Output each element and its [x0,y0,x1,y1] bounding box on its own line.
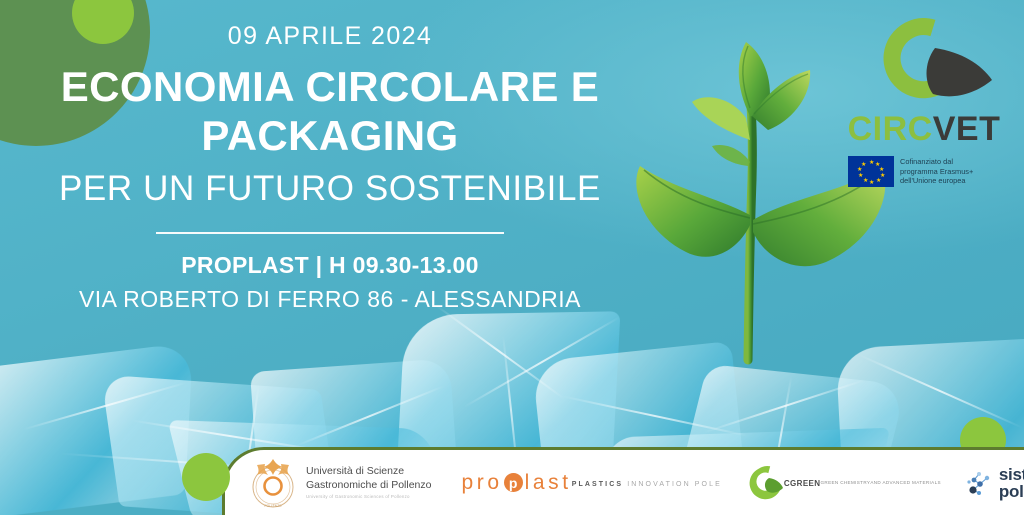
venue-and-time: PROPLAST | H 09.30-13.00 [0,252,660,279]
cgreen-mark-icon [748,465,784,501]
circvet-mark-icon [849,8,999,116]
unisg-seal-icon: POLLENZO [247,455,299,511]
unisg-subline: University of Gastronomic Sciences of Po… [306,494,431,500]
erasmus-badge-text: Cofinanziato dal programma Erasmus+ dell… [900,157,973,186]
circvet-logo: CIRCVET ★ ★ ★ ★ ★ ★ ★ ★ ★ ★ Cofinanziato… [840,8,1008,187]
circvet-word-vet: VET [933,110,1001,148]
unisg-line1: Università di Scienze [306,465,431,478]
erasmus-eu-badge: ★ ★ ★ ★ ★ ★ ★ ★ ★ ★ Cofinanziato dal pro… [848,156,1008,187]
unisg-text: Università di Scienze Gastronomiche di P… [306,465,431,500]
proplast-circle-p-icon: p [504,473,523,492]
cgreen-name: CGREEN [784,479,821,488]
text-divider-rule [156,232,504,234]
sistema-poli-wordmark: sistema poli innovation Piemonte [999,466,1024,500]
poli-word: poli [999,483,1024,500]
cgreen-sub2: AND ADVANCED MATERIALS [870,480,941,486]
cgreen-sub1: GREEN CHEMISTRY [820,480,870,486]
proplast-wordmark: proplast [461,472,571,493]
circvet-wordmark: CIRCVET [840,112,1008,146]
eu-flag-icon: ★ ★ ★ ★ ★ ★ ★ ★ ★ ★ [848,156,894,187]
venue-address: VIA ROBERTO DI FERRO 86 - ALESSANDRIA [0,286,660,313]
proplast-word-pre: pro [461,472,502,493]
logo-proplast: proplast PLASTICS INNOVATION POLE [461,472,721,493]
logo-sistema-poli: sistema poli innovation Piemonte [965,466,1024,500]
erasmus-badge-line2: programma Erasmus+ [900,167,973,177]
unisg-line2: Gastronomiche di Pollenzo [306,479,431,492]
event-date: 09 APRILE 2024 [0,22,660,51]
poster-headline-line1: ECONOMIA CIRCOLARE E [0,63,660,112]
proplast-tagline-light: INNOVATION POLE [627,481,722,488]
poster-text-block: 09 APRILE 2024 ECONOMIA CIRCOLARE E PACK… [0,22,660,313]
proplast-tagline: PLASTICS INNOVATION POLE [572,481,722,488]
circvet-word-circ: CIRC [848,110,933,148]
logo-unisg: POLLENZO Università di Scienze Gastronom… [247,455,431,511]
footer-decor-circle-left [182,453,230,501]
proplast-tagline-bold: PLASTICS [572,481,623,488]
erasmus-badge-line1: Cofinanziato dal [900,157,973,167]
erasmus-badge-line3: dell'Unione europea [900,176,973,186]
sponsor-footer-bar: POLLENZO Università di Scienze Gastronom… [222,447,1024,515]
poster-headline-line2: PACKAGING [0,112,660,161]
svg-text:POLLENZO: POLLENZO [264,504,282,508]
logo-cgreen: CGREEN GREEN CHEMISTRY AND ADVANCED MATE… [748,465,941,501]
sistema-poli-molecule-icon [965,468,995,498]
proplast-word-post: last [525,472,572,493]
sistema-word: sistema [999,466,1024,483]
poster-subheadline: PER UN FUTURO SOSTENIBILE [0,168,660,210]
event-poster: 09 APRILE 2024 ECONOMIA CIRCOLARE E PACK… [0,0,1024,515]
